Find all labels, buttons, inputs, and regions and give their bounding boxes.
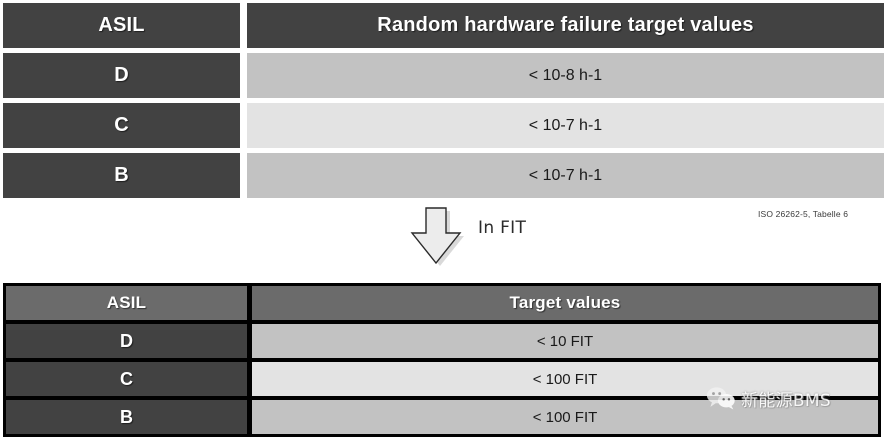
asil-level-label: D [114, 64, 128, 87]
header-label-target-values: Target values [510, 293, 621, 313]
asil-level-label: C [120, 369, 133, 390]
header-label-asil: ASIL [98, 14, 144, 37]
cell-target-value: < 10-7 h-1 [247, 103, 884, 148]
cell-target-value: < 10 FIT [252, 324, 878, 358]
cell-asil-level: C [6, 362, 247, 396]
cell-asil-level: D [3, 53, 240, 98]
cell-asil-level: B [6, 400, 247, 434]
cell-asil-level: C [3, 103, 240, 148]
conversion-band: In FIT ISO 26262-5, Tabelle 6 [0, 192, 896, 278]
slide-canvas: ASIL Random hardware failure target valu… [0, 0, 896, 448]
header-cell-target-values: Target values [252, 286, 878, 320]
table-row: C < 100 FIT [6, 362, 878, 396]
table-row: C < 10-7 h-1 [3, 103, 884, 148]
table-header-row: ASIL Random hardware failure target valu… [3, 3, 884, 48]
cell-target-value: < 100 FIT [252, 400, 878, 434]
source-reference-note: ISO 26262-5, Tabelle 6 [758, 209, 848, 219]
random-hardware-failure-table: ASIL Random hardware failure target valu… [3, 3, 884, 198]
cell-asil-level: D [6, 324, 247, 358]
table-row: D < 10 FIT [6, 324, 878, 358]
target-value-label: < 10 FIT [537, 333, 593, 350]
target-value-label: < 100 FIT [533, 371, 598, 388]
header-cell-asil: ASIL [6, 286, 247, 320]
cell-target-value: < 10-8 h-1 [247, 53, 884, 98]
target-value-label: < 100 FIT [533, 409, 598, 426]
header-label-asil: ASIL [107, 293, 147, 313]
asil-level-label: B [114, 164, 128, 187]
header-cell-target-values: Random hardware failure target values [247, 3, 884, 48]
table-row: D < 10-8 h-1 [3, 53, 884, 98]
table-header-row: ASIL Target values [6, 286, 878, 320]
asil-level-label: D [120, 331, 133, 352]
header-label-target-values: Random hardware failure target values [377, 14, 753, 37]
fit-target-values-table: ASIL Target values D < 10 FIT C < 100 FI… [3, 283, 881, 437]
cell-target-value: < 100 FIT [252, 362, 878, 396]
asil-level-label: B [120, 407, 133, 428]
arrow-label: In FIT [478, 218, 526, 238]
target-value-label: < 10-7 h-1 [529, 167, 602, 185]
target-value-label: < 10-8 h-1 [529, 67, 602, 85]
asil-level-label: C [114, 114, 128, 137]
target-value-label: < 10-7 h-1 [529, 117, 602, 135]
arrow-down-icon [405, 206, 467, 268]
table-row: B < 100 FIT [6, 400, 878, 434]
header-cell-asil: ASIL [3, 3, 240, 48]
